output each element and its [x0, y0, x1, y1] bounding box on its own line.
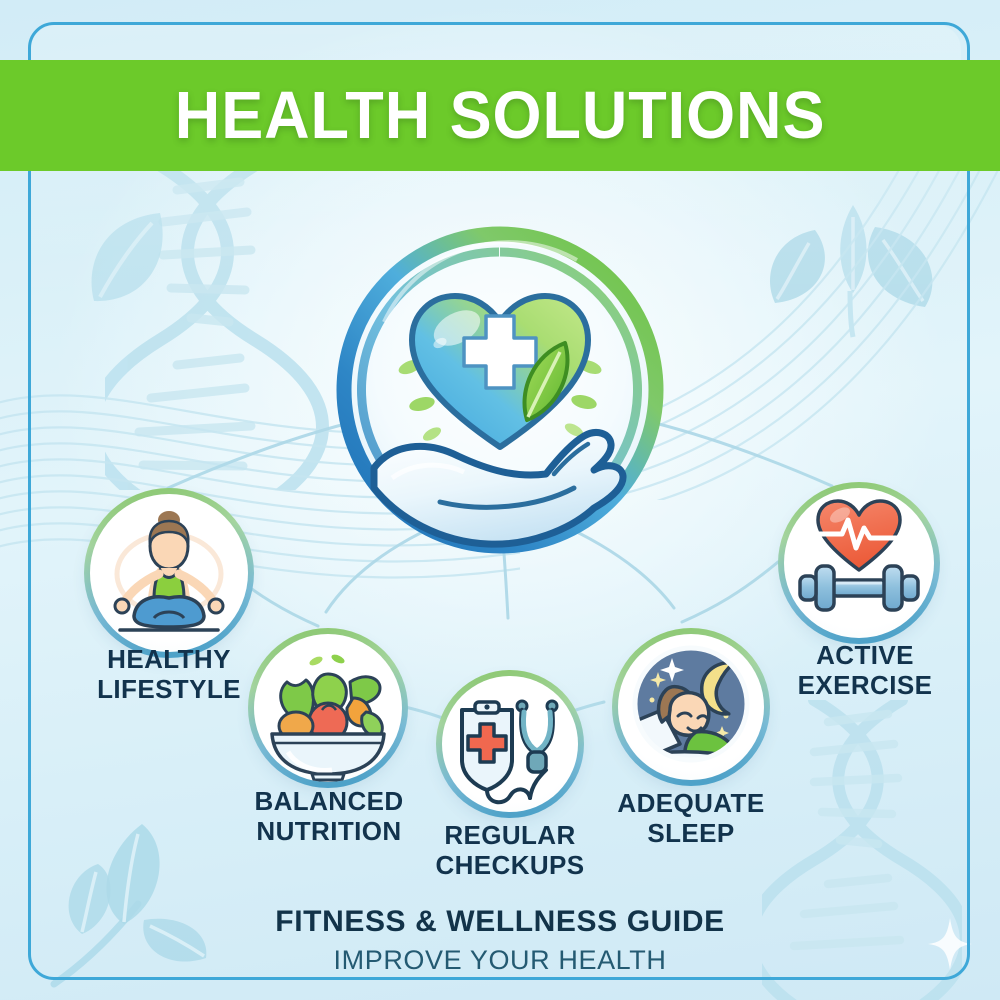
dna-helix-icon: [105, 160, 335, 490]
footer-sub-text: IMPROVE YOUR HEALTH: [0, 945, 1000, 976]
clipboard-stethoscope-icon: [442, 676, 578, 812]
title-banner: HEALTH SOLUTIONS: [0, 60, 1000, 171]
node-bubble: [784, 488, 934, 638]
node-label-healthy-lifestyle: HEALTHY LIFESTYLE: [64, 644, 274, 705]
heartbeat-dumbbell-icon: [784, 488, 934, 638]
footer-main-text: FITNESS & WELLNESS GUIDE: [0, 905, 1000, 939]
node-regular-checkups[interactable]: [436, 670, 584, 818]
yoga-lotus-icon: [90, 494, 248, 652]
leaf-cluster-icon: [755, 195, 955, 340]
salad-bowl-icon: [254, 634, 402, 782]
infographic-poster: HEALTH SOLUTIONS: [0, 0, 1000, 1000]
node-label-regular-checkups: REGULAR CHECKUPS: [405, 820, 615, 881]
node-label-balanced-nutrition: BALANCED NUTRITION: [224, 786, 434, 847]
node-bubble: [442, 676, 578, 812]
node-healthy-lifestyle[interactable]: [84, 488, 254, 658]
node-bubble: [618, 634, 764, 780]
hero-emblem: [322, 212, 678, 568]
node-active-exercise[interactable]: [778, 482, 940, 644]
node-adequate-sleep[interactable]: [612, 628, 770, 786]
leaf-icon: [82, 205, 177, 320]
node-label-active-exercise: ACTIVE EXERCISE: [760, 640, 970, 701]
node-label-adequate-sleep: ADEQUATE SLEEP: [586, 788, 796, 849]
node-bubble: [254, 634, 402, 782]
sleeping-person-moon-icon: [618, 634, 764, 780]
page-title: HEALTH SOLUTIONS: [175, 77, 826, 154]
footer: FITNESS & WELLNESS GUIDE IMPROVE YOUR HE…: [0, 905, 1000, 976]
node-bubble: [90, 494, 248, 652]
